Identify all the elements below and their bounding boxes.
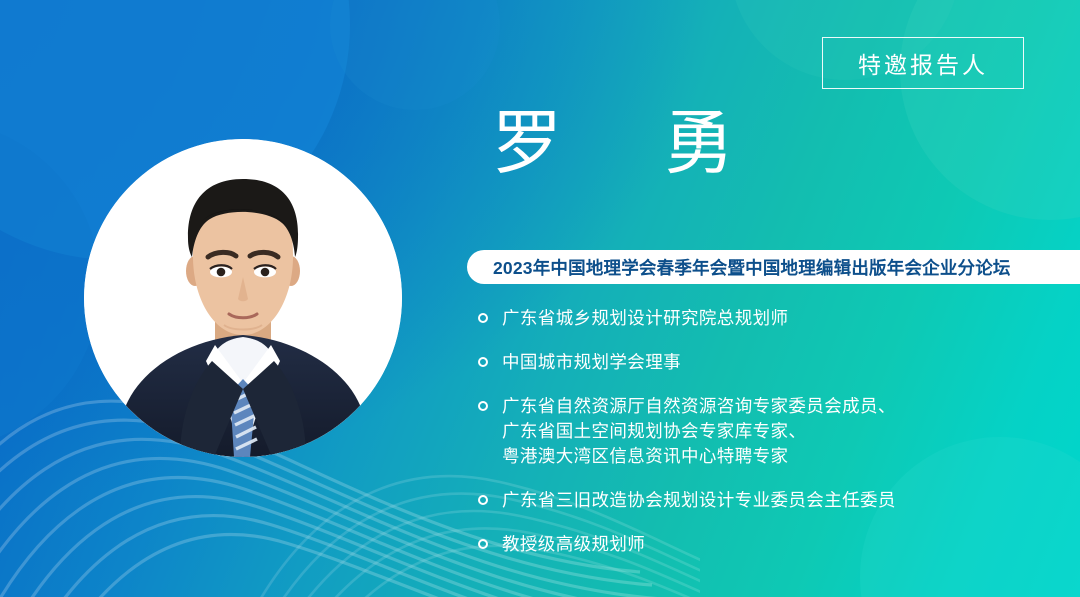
- credentials-list: 广东省城乡规划设计研究院总规划师 中国城市规划学会理事 广东省自然资源厅自然资源…: [478, 306, 1058, 557]
- decorative-circle-top-right: [900, 0, 1080, 220]
- portrait-illustration: [84, 139, 402, 457]
- credential-text: 广东省自然资源厅自然资源咨询专家委员会成员、 广东省国土空间规划协会专家库专家、…: [502, 394, 896, 469]
- credential-text: 广东省三旧改造协会规划设计专业委员会主任委员: [502, 488, 896, 513]
- ring-bullet-icon: [478, 357, 488, 367]
- ring-bullet-icon: [478, 495, 488, 505]
- credential-text: 广东省城乡规划设计研究院总规划师: [502, 306, 788, 331]
- credential-item: 中国城市规划学会理事: [478, 350, 1058, 375]
- speaker-name: 罗 勇: [492, 108, 750, 178]
- speaker-intro-slide: 特邀报告人 罗 勇 2023年中国地理学会春季年会暨中国地理编辑出版年会企业分论…: [0, 0, 1080, 597]
- credential-item: 广东省三旧改造协会规划设计专业委员会主任委员: [478, 488, 1058, 513]
- decorative-circle-mid-left: [330, 0, 500, 110]
- credential-item: 广东省城乡规划设计研究院总规划师: [478, 306, 1058, 331]
- ring-bullet-icon: [478, 539, 488, 549]
- credential-item: 广东省自然资源厅自然资源咨询专家委员会成员、 广东省国土空间规划协会专家库专家、…: [478, 394, 1058, 469]
- credential-item: 教授级高级规划师: [478, 532, 1058, 557]
- invited-speaker-badge-label: 特邀报告人: [858, 46, 988, 80]
- speaker-portrait: [84, 139, 402, 457]
- credential-text: 教授级高级规划师: [502, 532, 645, 557]
- ring-bullet-icon: [478, 313, 488, 323]
- conference-title-pill: 2023年中国地理学会春季年会暨中国地理编辑出版年会企业分论坛: [467, 250, 1080, 284]
- invited-speaker-badge: 特邀报告人: [822, 37, 1024, 89]
- credential-text: 中国城市规划学会理事: [502, 350, 681, 375]
- ring-bullet-icon: [478, 401, 488, 411]
- conference-title: 2023年中国地理学会春季年会暨中国地理编辑出版年会企业分论坛: [493, 255, 1011, 280]
